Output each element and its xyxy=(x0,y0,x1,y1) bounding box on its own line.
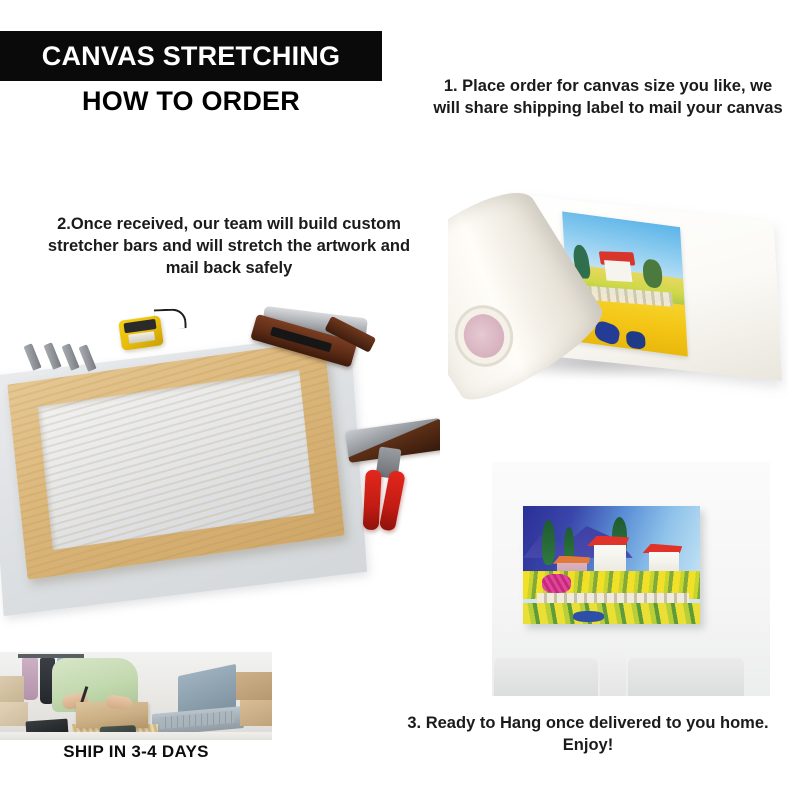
pliers-grip-right xyxy=(379,470,406,532)
canvas-wedges-group xyxy=(26,342,98,372)
tape-measure-icon xyxy=(118,315,164,351)
wall-art-blue-flowers xyxy=(573,611,605,622)
canvas-stretching-pliers xyxy=(332,418,440,558)
wall-art-white-house-a xyxy=(594,545,626,571)
stacked-box-a xyxy=(0,676,24,702)
page-subtitle: HOW TO ORDER xyxy=(0,86,382,117)
sofa-left xyxy=(494,658,598,696)
sofa-backrest xyxy=(600,644,626,696)
wall-art-magenta-bush xyxy=(542,574,570,593)
wedge-icon xyxy=(61,343,79,370)
step-2-text: 2.Once received, our team will build cus… xyxy=(34,214,424,279)
sofa-right xyxy=(628,658,744,696)
frame-inner-canvas xyxy=(38,370,314,550)
desk-surface xyxy=(0,732,272,740)
page-title: CANVAS STRETCHING xyxy=(42,43,340,70)
wedge-icon xyxy=(23,343,41,370)
hanging-garment-a xyxy=(22,658,38,700)
wedge-icon xyxy=(43,342,61,369)
shipping-caption: SHIP IN 3-4 DAYS xyxy=(0,742,272,762)
stacked-box-c xyxy=(236,672,272,700)
wall-art-foreground-field xyxy=(523,603,700,624)
wall-art-white-house-b xyxy=(649,552,679,572)
painting-white-house xyxy=(604,260,632,282)
pliers-grip-left xyxy=(363,470,382,531)
title-banner: CANVAS STRETCHING xyxy=(0,31,382,81)
shipping-packing-photo xyxy=(0,652,272,740)
step-1-text: 1. Place order for canvas size you like,… xyxy=(432,76,784,120)
stretcher-frame-photo xyxy=(0,302,440,640)
stacked-box-d xyxy=(240,700,272,726)
hanging-canvas-photo xyxy=(492,462,770,696)
rolled-canvas-photo xyxy=(448,186,788,418)
step-3-text: 3. Ready to Hang once delivered to you h… xyxy=(382,713,794,757)
stacked-box-b xyxy=(0,702,28,726)
wedge-icon xyxy=(78,344,96,371)
framed-canvas-on-wall xyxy=(523,506,700,624)
wall-art-cypress-a xyxy=(542,520,554,565)
tape-blade xyxy=(128,331,155,344)
